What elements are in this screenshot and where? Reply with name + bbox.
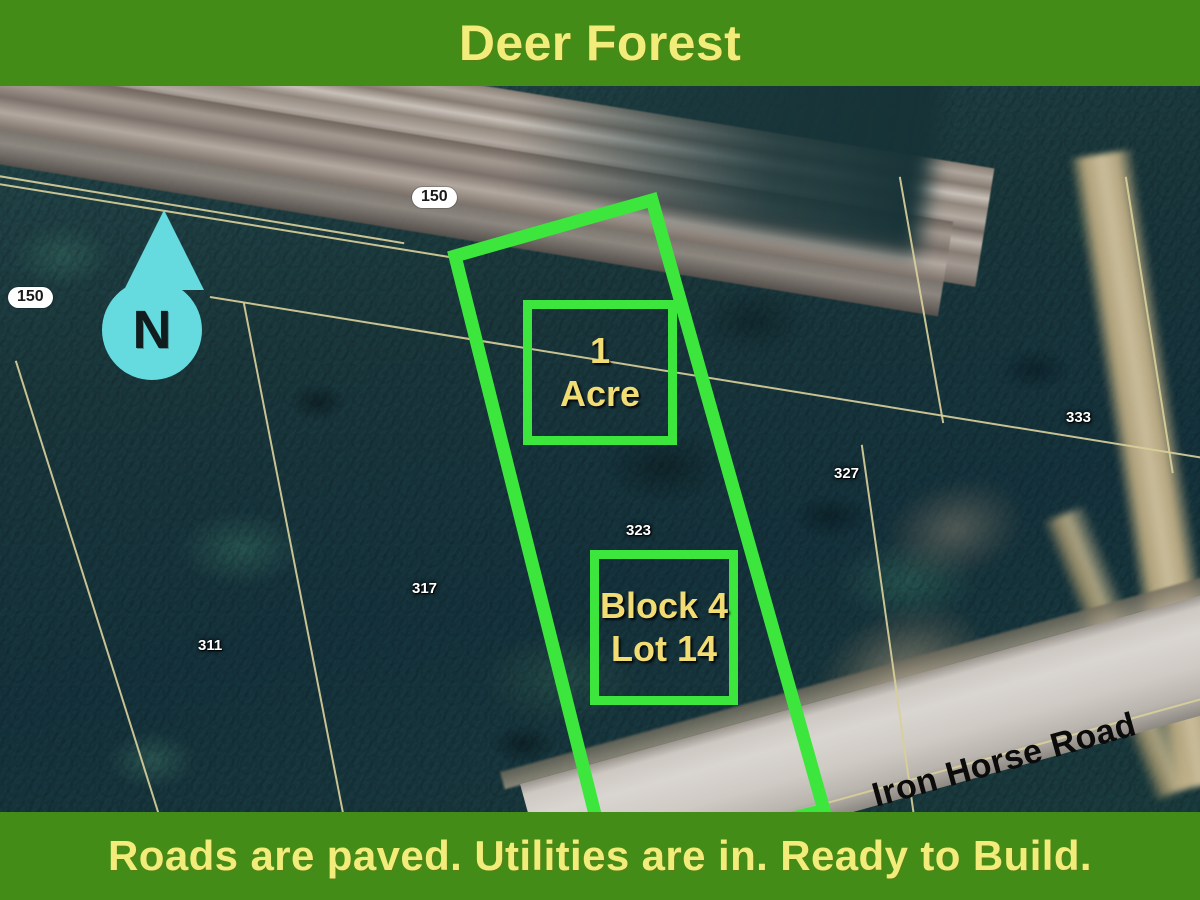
- land-listing-map-graphic: Deer Forest 150150 311317323327333 Iron …: [0, 0, 1200, 900]
- lot-callout: Block 4 Lot 14: [590, 550, 738, 705]
- north-arrow-label: N: [133, 303, 172, 357]
- highlighted-lot-boundary: [455, 200, 824, 818]
- north-arrow-triangle-icon: [124, 210, 204, 290]
- header-banner: Deer Forest: [0, 0, 1200, 86]
- lot-callout-line1: Block 4: [600, 585, 728, 627]
- acre-callout-line2: Acre: [560, 373, 640, 415]
- footer-caption: Roads are paved. Utilities are in. Ready…: [108, 832, 1092, 880]
- acre-callout-line1: 1: [590, 330, 610, 372]
- lot-callout-line2: Lot 14: [611, 628, 717, 670]
- page-title: Deer Forest: [459, 14, 741, 72]
- satellite-map: 150150 311317323327333 Iron Horse Road 1…: [0, 84, 1200, 818]
- lot-outline-overlay: [0, 84, 1200, 818]
- footer-banner: Roads are paved. Utilities are in. Ready…: [0, 812, 1200, 900]
- north-arrow-circle: N: [102, 280, 202, 380]
- acre-callout: 1 Acre: [523, 300, 677, 445]
